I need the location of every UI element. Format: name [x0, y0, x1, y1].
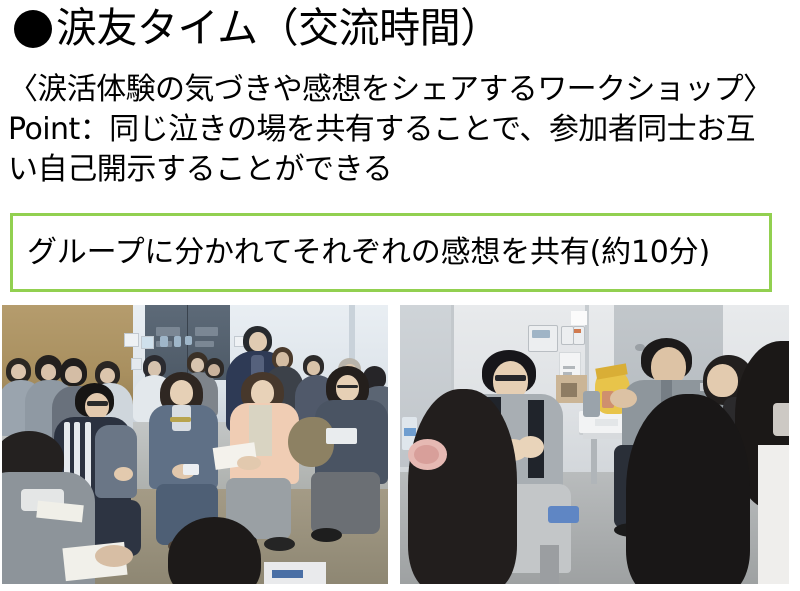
photo-seminar-room-group	[2, 305, 388, 584]
slide-root: 涙友タイム（交流時間） 〈涙活体験の気づきや感想をシェアするワークショップ〉 P…	[0, 0, 800, 591]
body-line-2: Point：同じ泣きの場を共有することで、参加者同士お互	[8, 110, 794, 150]
page-title-text: 涙友タイム（交流時間）	[56, 8, 501, 49]
callout-box: グループに分かれてそれぞれの感想を共有(約10分)	[10, 213, 772, 292]
photo-small-group-discussion	[400, 305, 789, 584]
photo-small-group-scene	[400, 305, 789, 584]
callout-text: グループに分かれてそれぞれの感想を共有(約10分)	[13, 236, 710, 269]
filled-circle-bullet-icon	[14, 10, 52, 48]
body-text-block: 〈涙活体験の気づきや感想をシェアするワークショップ〉 Point：同じ泣きの場を…	[8, 70, 794, 190]
page-title: 涙友タイム（交流時間）	[14, 8, 501, 49]
body-line-3: い自己開示することができる	[8, 150, 794, 190]
photo-seminar-room-scene	[2, 305, 388, 584]
body-line-1: 〈涙活体験の気づきや感想をシェアするワークショップ〉	[8, 70, 794, 110]
photo-row	[0, 305, 800, 586]
